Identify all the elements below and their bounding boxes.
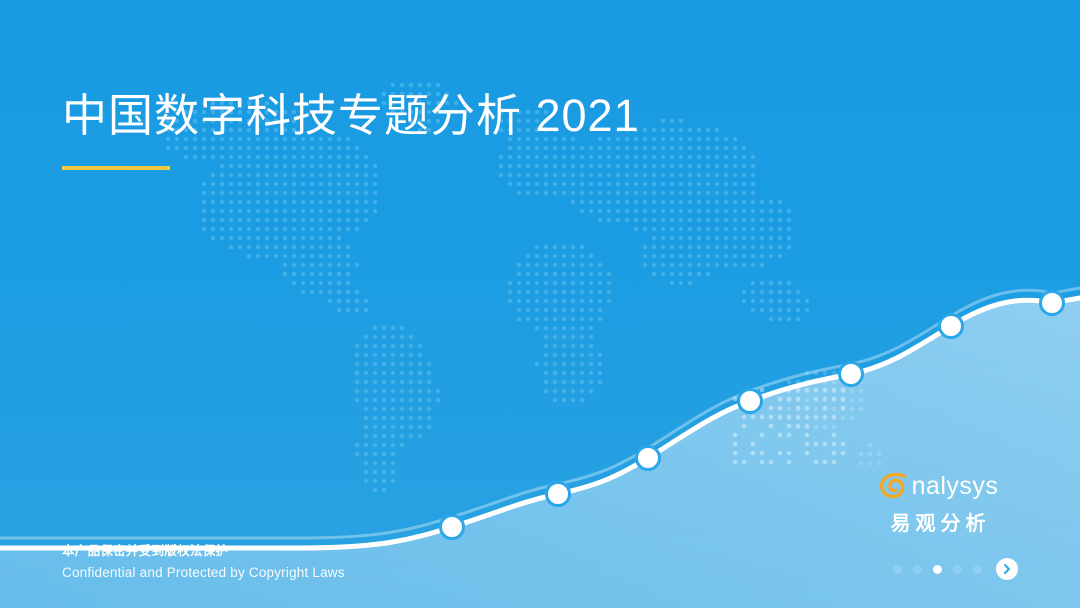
confidential-en: Confidential and Protected by Copyright … — [62, 565, 345, 580]
curve-marker — [547, 483, 570, 506]
logo-mark-row: nalysys — [858, 472, 1018, 500]
curve-marker — [840, 363, 863, 386]
page-title: 中国数字科技专题分析 2021 — [62, 88, 962, 144]
pager-dot-2[interactable] — [913, 565, 922, 574]
logo-chinese-name: 易观分析 — [858, 507, 1018, 536]
confidential-cn: 本产品保密并受到版权法保护 — [62, 540, 345, 559]
curve-marker — [739, 390, 762, 413]
pager-dot-4[interactable] — [953, 565, 962, 574]
title-underline-rule — [62, 166, 170, 170]
curve-marker — [441, 516, 464, 539]
next-slide-button[interactable] — [996, 558, 1018, 580]
title-block: 中国数字科技专题分析 2021 — [62, 88, 962, 170]
pager[interactable] — [893, 558, 1018, 580]
curve-marker — [637, 447, 660, 470]
chevron-right-icon — [1001, 563, 1013, 575]
analysys-swirl-icon — [878, 472, 908, 500]
pager-dot-5[interactable] — [973, 565, 982, 574]
footer-confidential: 本产品保密并受到版权法保护 Confidential and Protected… — [62, 540, 345, 580]
slide-root: 中国数字科技专题分析 2021 本产品保密并受到版权法保护 Confidenti… — [0, 0, 1080, 608]
pager-dot-3[interactable] — [933, 565, 942, 574]
brand-logo: nalysys 易观分析 — [858, 472, 1018, 536]
curve-marker — [1041, 292, 1064, 315]
curve-marker — [940, 315, 963, 338]
logo-wordmark: nalysys — [912, 474, 999, 499]
pager-dot-1[interactable] — [893, 565, 902, 574]
